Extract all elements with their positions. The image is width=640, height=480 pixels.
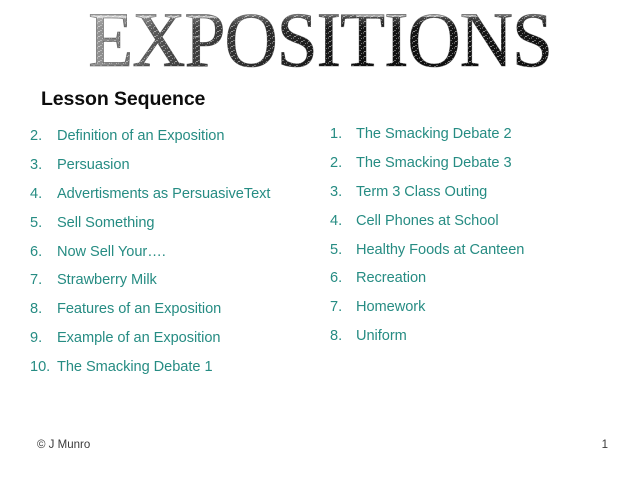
list-item-number: 5. [330, 242, 356, 258]
title-artwork-expositions: EXPOSITIONS EXPOSITIONS [56, 6, 584, 78]
list-item: 4. Cell Phones at School [330, 213, 620, 242]
list-item: 10. The Smacking Debate 1 [30, 359, 330, 388]
list-item: 3. Persuasion [30, 157, 330, 186]
list-item-number: 6. [330, 270, 356, 286]
list-item: 6. Now Sell Your…. [30, 244, 330, 273]
list-item: 3. Term 3 Class Outing [330, 184, 620, 213]
list-item: 7. Homework [330, 299, 620, 328]
list-item: 2. Definition of an Exposition [30, 128, 330, 157]
list-item-number: 1. [330, 126, 356, 142]
list-item-number: 3. [30, 157, 57, 173]
list-item: 6. Recreation [330, 270, 620, 299]
list-item-label: Term 3 Class Outing [356, 184, 620, 200]
list-item-number: 2. [30, 128, 57, 144]
list-item-number: 2. [330, 155, 356, 171]
section-heading: Lesson Sequence [41, 88, 205, 111]
footer-page-number: 1 [594, 439, 608, 451]
list-item-label: Strawberry Milk [57, 272, 330, 288]
list-item: 8. Features of an Exposition [30, 301, 330, 330]
list-item-label: Now Sell Your…. [57, 244, 330, 260]
list-item-number: 8. [330, 328, 356, 344]
footer-copyright: © J Munro [37, 439, 90, 451]
list-item: 5. Healthy Foods at Canteen [330, 242, 620, 271]
slide-title: EXPOSITIONS EXPOSITIONS [0, 6, 640, 80]
list-item-number: 8. [30, 301, 57, 317]
list-item-label: Sell Something [57, 215, 330, 231]
list-item: 7. Strawberry Milk [30, 272, 330, 301]
list-item: 4. Advertisments as PersuasiveText [30, 186, 330, 215]
list-item-number: 7. [330, 299, 356, 315]
list-item-label: Features of an Exposition [57, 301, 330, 317]
list-item-number: 5. [30, 215, 57, 231]
list-item-label: Cell Phones at School [356, 213, 620, 229]
lesson-list-left: 2. Definition of an Exposition 3. Persua… [30, 128, 330, 388]
list-item-label: The Smacking Debate 3 [356, 155, 620, 171]
list-item-label: Uniform [356, 328, 620, 344]
list-item-label: Advertisments as PersuasiveText [57, 186, 330, 202]
list-item-label: Healthy Foods at Canteen [356, 242, 620, 258]
svg-text:EXPOSITIONS: EXPOSITIONS [88, 6, 552, 78]
list-item-label: Homework [356, 299, 620, 315]
list-item-number: 4. [330, 213, 356, 229]
slide-canvas: EXPOSITIONS EXPOSITIONS Lesson Se [0, 0, 640, 480]
list-item-label: Definition of an Exposition [57, 128, 330, 144]
list-item-number: 9. [30, 330, 57, 346]
list-item-number: 3. [330, 184, 356, 200]
list-item-number: 4. [30, 186, 57, 202]
lesson-list-right: 1. The Smacking Debate 2 2. The Smacking… [330, 126, 620, 357]
list-item-label: The Smacking Debate 2 [356, 126, 620, 142]
list-item-number: 6. [30, 244, 57, 260]
list-item-label: Recreation [356, 270, 620, 286]
list-item: 8. Uniform [330, 328, 620, 357]
list-item: 5. Sell Something [30, 215, 330, 244]
list-item: 9. Example of an Exposition [30, 330, 330, 359]
list-item-label: Persuasion [57, 157, 330, 173]
list-item-label: Example of an Exposition [57, 330, 330, 346]
list-item: 2. The Smacking Debate 3 [330, 155, 620, 184]
list-item-number: 7. [30, 272, 57, 288]
list-item-label: The Smacking Debate 1 [57, 359, 330, 375]
list-item: 1. The Smacking Debate 2 [330, 126, 620, 155]
list-item-number: 10. [30, 359, 57, 375]
